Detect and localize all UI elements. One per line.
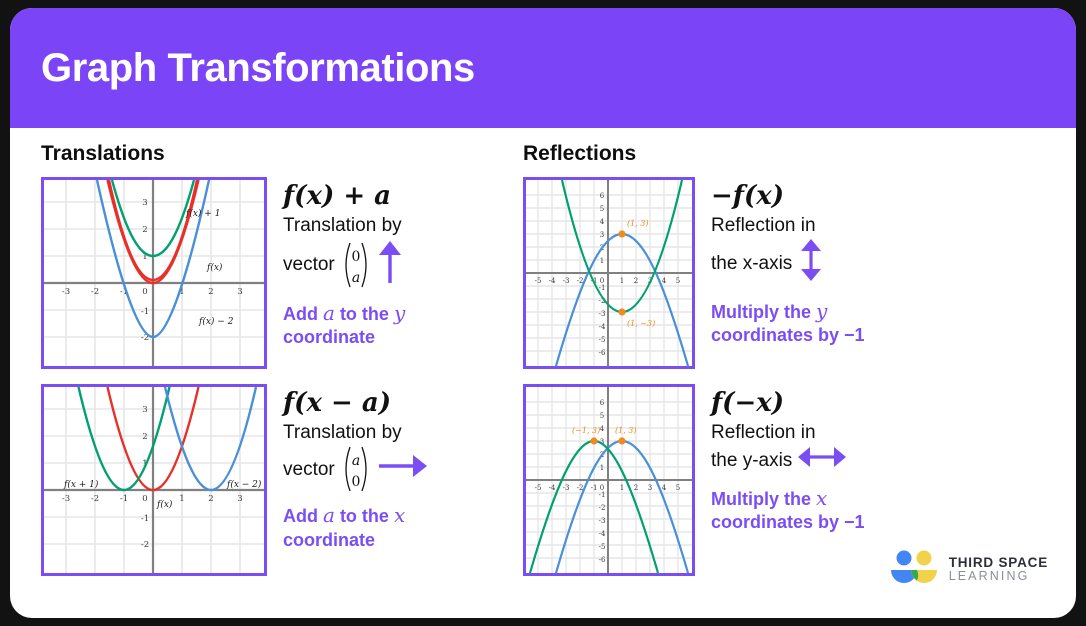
page-header: Graph Transformations [10,8,1076,128]
explanation-reflection-y-axis: f(−x) Reflection in the y-axis [695,384,865,534]
svg-text:2: 2 [634,484,638,492]
svg-text:1: 1 [179,494,184,504]
up-arrow-icon [377,237,403,291]
section-heading-translations: Translations [41,142,541,166]
svg-text:(−1, 3): (−1, 3) [572,426,600,435]
svg-text:5: 5 [600,205,604,213]
svg-text:f(x + 1): f(x + 1) [63,479,99,490]
rule-text-1: Multiply the x [711,489,827,509]
svg-text:(1, 3): (1, 3) [615,426,637,435]
svg-text:4: 4 [600,425,605,433]
svg-text:-3: -3 [62,287,70,297]
formula-fx-plus-a: f(x) + a [283,183,405,210]
svg-text:1: 1 [620,277,624,285]
svg-text:5: 5 [600,412,604,420]
description-line2-row: the x-axis [711,237,865,289]
formula-minus-fx: −f(x) [711,183,865,210]
vector-0-a: 0 a [339,240,373,290]
description-line2: vector [283,458,335,481]
description-line2-row: vector a 0 [283,444,429,494]
svg-text:f(x): f(x) [156,499,173,510]
page-title: Graph Transformations [10,46,475,91]
svg-text:-4: -4 [549,277,556,285]
svg-text:3: 3 [237,494,242,504]
left-right-arrow-icon [796,444,848,476]
svg-text:-5: -5 [535,277,542,285]
panel-reflection-x-axis: -5-4-3 -2-1 0 123 45 654 321 -1-2-3 -4-5… [523,177,1043,369]
page-body: Translations [10,128,1076,618]
svg-text:-3: -3 [599,310,606,318]
svg-text:-5: -5 [535,484,542,492]
right-arrow-icon [377,453,429,485]
rule-line1: Add a to the y [283,301,405,326]
section-heading-reflections: Reflections [523,142,1043,166]
rule-line1: Multiply the x [711,486,865,511]
up-down-arrow-icon [796,237,826,289]
svg-text:0: 0 [142,494,147,504]
svg-text:-1: -1 [120,494,128,504]
svg-text:3: 3 [237,287,242,297]
svg-text:f(x − 2): f(x − 2) [226,479,262,490]
svg-text:-5: -5 [599,336,606,344]
svg-text:5: 5 [676,484,680,492]
svg-text:-1: -1 [599,284,606,292]
svg-text:6: 6 [600,399,605,407]
svg-text:(1, −3): (1, −3) [627,319,655,328]
svg-text:5: 5 [676,277,680,285]
rule-line2: coordinate [283,529,429,552]
formula-fx-minus-a: f(x − a) [283,390,429,417]
svg-text:0: 0 [142,287,147,297]
svg-text:4: 4 [662,277,667,285]
svg-text:-5: -5 [599,543,606,551]
svg-text:a: a [352,270,360,286]
svg-text:-1: -1 [591,484,598,492]
panel-translation-vertical: -3-2-1 0 123 321 -1-2 f(x) + 1 [41,177,541,369]
svg-text:1: 1 [600,257,604,265]
graph-vertical-translation: -3-2-1 0 123 321 -1-2 f(x) + 1 [41,177,267,369]
vector-a-0: a 0 [339,444,373,494]
svg-text:-6: -6 [599,349,606,357]
svg-text:3: 3 [600,231,604,239]
logo-text: THIRD SPACE LEARNING [949,556,1048,583]
svg-text:f(x) + 1: f(x) + 1 [185,208,220,219]
panel-translation-horizontal: -3-2-1 0 123 321 -1-2 f(x + 1) f(x − 2) [41,384,541,576]
svg-text:0: 0 [351,474,360,490]
svg-text:-2: -2 [91,494,99,504]
graph-horizontal-translation: -3-2-1 0 123 321 -1-2 f(x + 1) f(x − 2) [41,384,267,576]
explanation-translation-horizontal: f(x − a) Translation by vector a 0 [267,384,429,551]
description-line1: Translation by [283,421,429,444]
description-line2: the y-axis [711,449,792,472]
svg-text:2: 2 [208,287,213,297]
logo-line-1: THIRD SPACE [949,556,1048,570]
graph-reflection-y-axis: -5-4-3 -2-1 0 123 45 654 321 -1-2-3 -4-5… [523,384,695,576]
description-line1: Reflection in [711,214,865,237]
svg-text:-1: -1 [141,307,149,317]
svg-text:2: 2 [142,225,147,235]
svg-text:6: 6 [600,192,605,200]
svg-text:f(x): f(x) [206,262,223,273]
rule-line2: coordinates by −1 [711,324,865,347]
description-line2-row: vector 0 a [283,237,405,291]
svg-text:-4: -4 [599,530,606,538]
svg-text:2: 2 [142,432,147,442]
description-line2: vector [283,253,335,276]
svg-text:-3: -3 [563,277,570,285]
svg-text:-6: -6 [599,556,606,564]
formula-f-minus-x: f(−x) [711,390,865,417]
rule-line2: coordinate [283,326,405,349]
rule-text-1: Add a to the y [283,304,405,324]
svg-text:-2: -2 [91,287,99,297]
logo-mark-icon [889,547,939,592]
rule-line2: coordinates by −1 [711,511,865,534]
svg-text:-3: -3 [62,494,70,504]
rule-text-1: Add a to the x [283,506,405,526]
svg-text:a: a [352,453,360,469]
content-card: Graph Transformations Translations [10,8,1076,618]
description-line1: Reflection in [711,421,865,444]
svg-text:-4: -4 [549,484,556,492]
description-line1: Translation by [283,214,405,237]
svg-text:-2: -2 [599,504,606,512]
explanation-reflection-x-axis: −f(x) Reflection in the x-axis [695,177,865,347]
explanation-translation-vertical: f(x) + a Translation by vector 0 a [267,177,405,349]
svg-text:-3: -3 [599,517,606,525]
logo-line-2: LEARNING [949,570,1048,583]
svg-text:2: 2 [634,277,638,285]
svg-text:1: 1 [620,484,624,492]
svg-text:f(x) − 2: f(x) − 2 [198,316,234,327]
svg-text:-3: -3 [563,484,570,492]
svg-text:2: 2 [208,494,213,504]
rule-text-1: Multiply the y [711,302,827,322]
svg-text:-1: -1 [141,514,149,524]
svg-text:-2: -2 [141,540,149,550]
svg-text:1: 1 [600,464,604,472]
svg-text:3: 3 [142,198,147,208]
description-line2: the x-axis [711,252,792,275]
graph-reflection-x-axis: -5-4-3 -2-1 0 123 45 654 321 -1-2-3 -4-5… [523,177,695,369]
svg-text:4: 4 [600,218,605,226]
svg-text:4: 4 [662,484,667,492]
description-line2-row: the y-axis [711,444,865,476]
svg-text:-1: -1 [599,491,606,499]
rule-line1: Add a to the x [283,503,429,528]
svg-text:3: 3 [648,484,652,492]
third-space-learning-logo: THIRD SPACE LEARNING [889,547,1048,592]
section-reflections: Reflections [523,142,1043,591]
svg-text:3: 3 [142,405,147,415]
section-translations: Translations [41,142,541,591]
rule-line1: Multiply the y [711,299,865,324]
svg-text:-4: -4 [599,323,606,331]
svg-text:0: 0 [351,249,360,265]
svg-text:(1, 3): (1, 3) [627,219,649,228]
